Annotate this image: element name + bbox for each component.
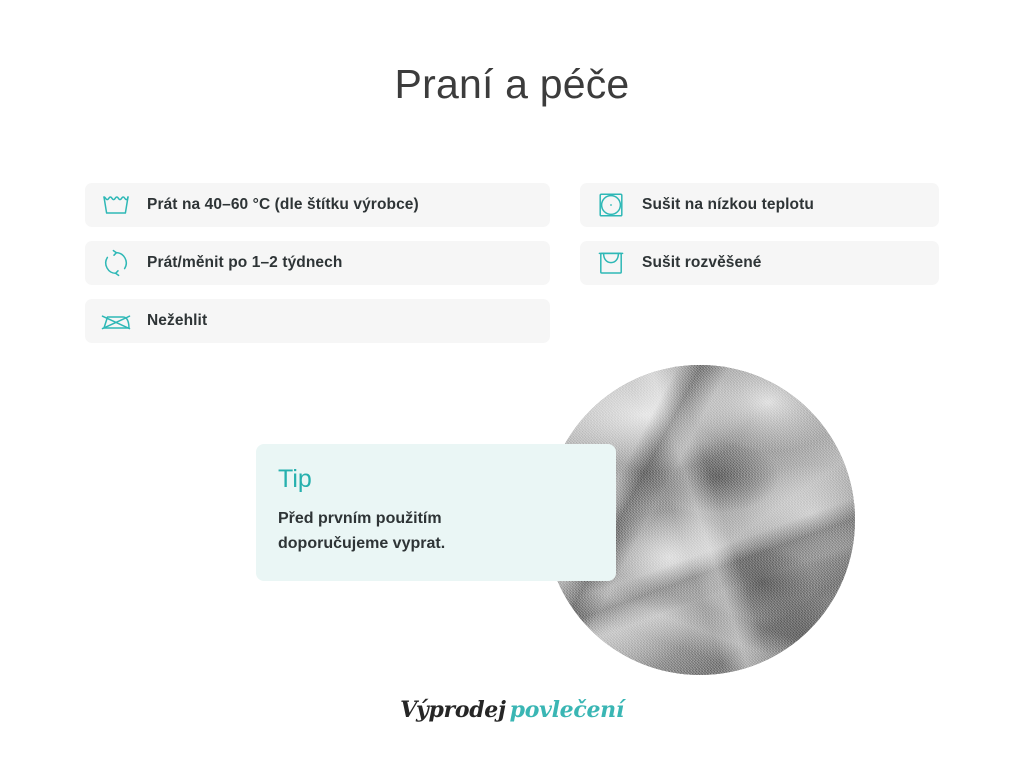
care-row-do-not-iron: Nežehlit <box>85 299 550 343</box>
tip-card-text: Před prvním použitím doporučujeme vyprat… <box>278 506 592 557</box>
care-row-wash-frequency: Prát/měnit po 1–2 týdnech <box>85 241 550 285</box>
care-row-line-dry: Sušit rozvěšené <box>580 241 939 285</box>
page-title: Praní a péče <box>0 60 1024 109</box>
brand-logo: Výprodejpovlečení <box>0 697 1024 723</box>
tumble-dry-low-icon <box>594 190 628 220</box>
care-row-wash-temperature: Prát na 40–60 °C (dle štítku výrobce) <box>85 183 550 227</box>
care-row-label: Nežehlit <box>147 312 207 330</box>
brand-logo-part-teal: povlečení <box>510 697 624 723</box>
line-dry-icon <box>594 248 628 278</box>
care-row-label: Sušit rozvěšené <box>642 254 762 272</box>
do-not-iron-icon <box>99 306 133 336</box>
care-row-label: Prát/měnit po 1–2 týdnech <box>147 254 342 272</box>
tip-card: Tip Před prvním použitím doporučujeme vy… <box>256 444 616 581</box>
brand-logo-part-dark: Výprodej <box>400 697 506 723</box>
wash-tub-icon <box>99 190 133 220</box>
care-row-label: Prát na 40–60 °C (dle štítku výrobce) <box>147 196 419 214</box>
care-column-right: Sušit na nízkou teplotu Sušit rozvěšené <box>580 183 939 343</box>
care-instructions-grid: Prát na 40–60 °C (dle štítku výrobce) Pr… <box>85 183 939 343</box>
tip-card-title: Tip <box>278 466 592 494</box>
care-row-tumble-dry-low: Sušit na nízkou teplotu <box>580 183 939 227</box>
care-instructions-page: Praní a péče Prát na 40–60 °C (dle štítk… <box>0 0 1024 768</box>
care-row-label: Sušit na nízkou teplotu <box>642 196 814 214</box>
refresh-cycle-icon <box>99 248 133 278</box>
care-column-left: Prát na 40–60 °C (dle štítku výrobce) Pr… <box>85 183 550 343</box>
